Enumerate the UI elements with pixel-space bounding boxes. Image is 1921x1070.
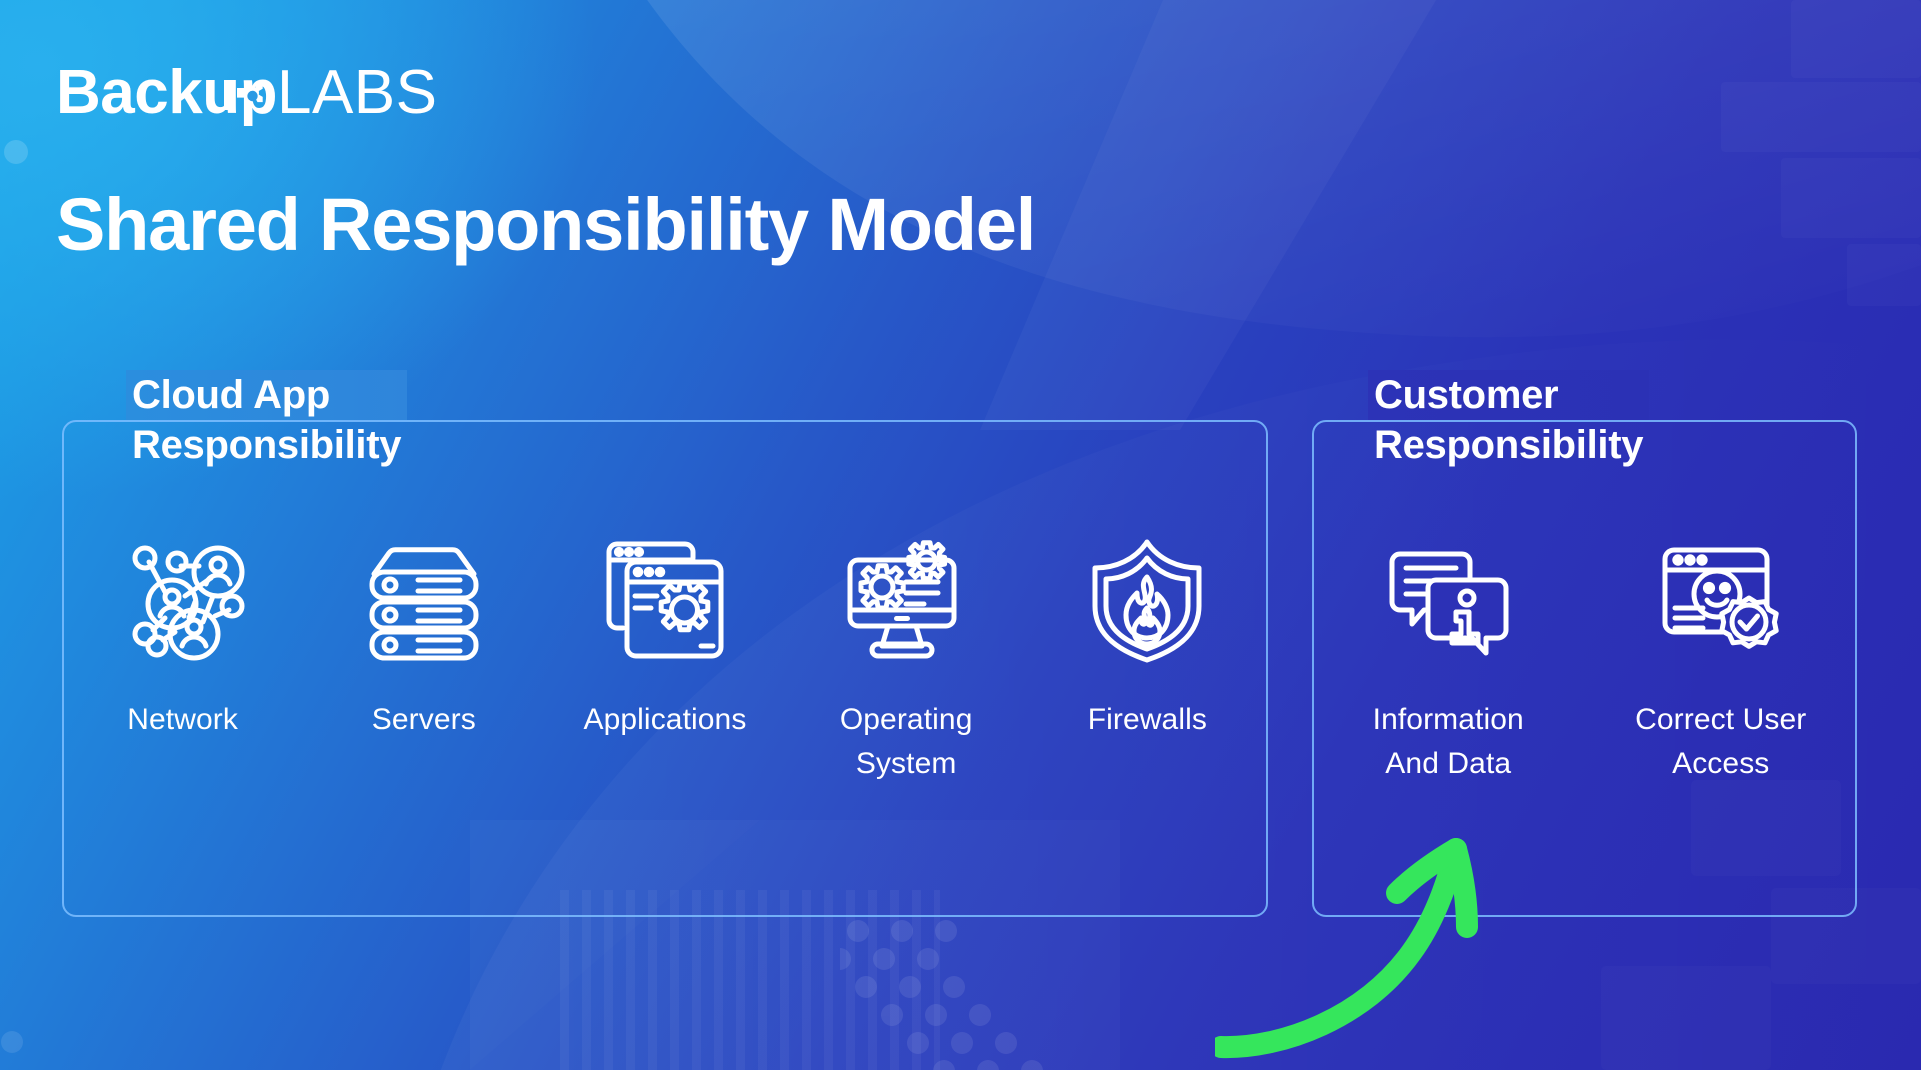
network-nodes-icon: [113, 530, 253, 670]
item-information-and-data-label: Information And Data: [1373, 698, 1524, 786]
page-title: Shared Responsibility Model: [56, 185, 1035, 265]
item-correct-user-access-label: Correct User Access: [1635, 698, 1806, 786]
item-operating-system[interactable]: Operating System: [806, 530, 1006, 786]
infographic-canvas: Backup LABS Shared Responsibility Model …: [0, 0, 1921, 1070]
item-applications-label: Applications: [583, 698, 746, 742]
item-servers[interactable]: Servers: [324, 530, 524, 742]
panel-cloud-title-line1: Cloud App: [126, 370, 407, 420]
item-servers-label: Servers: [372, 698, 476, 742]
item-correct-user-access[interactable]: Correct User Access: [1606, 530, 1836, 786]
panel-cloud-title-line2: Responsibility: [126, 420, 407, 470]
item-network-label: Network: [127, 698, 238, 742]
monitor-gears-icon: [836, 530, 976, 670]
logo-secondary-text: LABS: [277, 62, 438, 124]
item-operating-system-label: Operating System: [840, 698, 973, 786]
server-stack-icon: [354, 530, 494, 670]
chat-info-icon: [1378, 530, 1518, 670]
item-network[interactable]: Network: [83, 530, 283, 742]
customer-responsibility-items: Information And Data: [1312, 530, 1857, 786]
brand-logo: Backup LABS: [56, 62, 438, 134]
app-windows-gear-icon: [595, 530, 735, 670]
panel-customer-title-line2: Responsibility: [1368, 420, 1649, 470]
item-applications[interactable]: Applications: [565, 530, 765, 742]
item-firewalls-label: Firewalls: [1088, 698, 1207, 742]
background-corner-blocks-decoration: [1361, 0, 1921, 420]
item-information-and-data[interactable]: Information And Data: [1333, 530, 1563, 786]
shield-flame-icon: [1077, 530, 1217, 670]
item-firewalls[interactable]: Firewalls: [1047, 530, 1247, 742]
background-dot-grid-decoration: [840, 915, 1140, 1070]
panel-cloud-title: Cloud App Responsibility: [132, 370, 407, 470]
panel-customer-title: Customer Responsibility: [1374, 370, 1649, 470]
cloud-responsibility-items: Network: [62, 530, 1268, 786]
panel-customer-title-line1: Customer: [1368, 370, 1649, 420]
background-stripes-decoration: [560, 890, 940, 1070]
gear-icon: [224, 72, 270, 118]
browser-smiley-badge-icon: [1651, 530, 1791, 670]
